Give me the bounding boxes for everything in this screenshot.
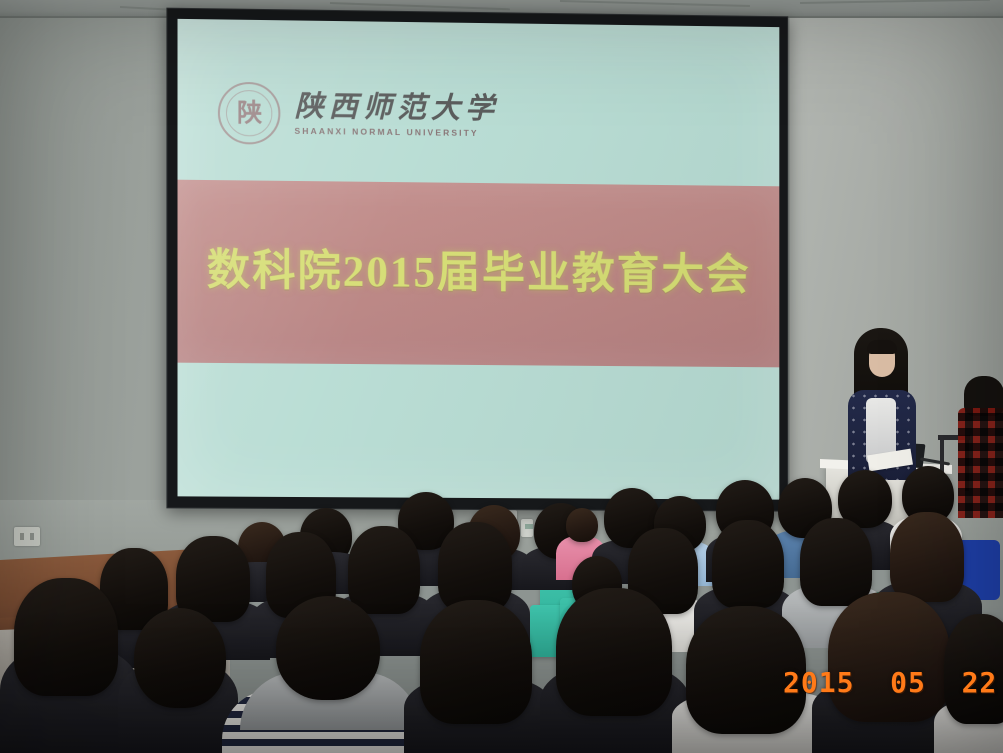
projection-screen: 陕 陕西师范大学 SHAANXI NORMAL UNIVERSITY 数科院20… [166, 8, 788, 512]
audience-head [556, 588, 672, 716]
audience-head [828, 592, 950, 722]
speaker-person [840, 328, 924, 476]
audience-head [134, 608, 226, 708]
audience-plaid-shirt [958, 408, 1003, 518]
audience-head [348, 526, 420, 614]
photograph-scene: 陕 陕西师范大学 SHAANXI NORMAL UNIVERSITY 数科院20… [0, 0, 1003, 753]
audience-head [890, 512, 964, 602]
university-name-en: SHAANXI NORMAL UNIVERSITY [294, 126, 499, 138]
wall-outlet-icon [521, 519, 533, 537]
audience-head [566, 508, 598, 542]
audience-head [800, 518, 872, 606]
presentation-slide: 陕 陕西师范大学 SHAANXI NORMAL UNIVERSITY 数科院20… [178, 19, 780, 500]
camera-timestamp: 2015 05 22 [783, 666, 997, 699]
left-wall [0, 18, 175, 518]
speaker-fringe [867, 340, 897, 354]
audience-head [14, 578, 118, 696]
audience-head [438, 522, 512, 612]
slide-title: 数科院2015届毕业教育大会 [178, 235, 780, 303]
audience-head [276, 596, 380, 700]
seal-character: 陕 [237, 101, 261, 126]
wall-outlet-icon [14, 527, 40, 546]
university-seal-icon: 陕 [218, 82, 280, 145]
university-logo: 陕 陕西师范大学 SHAANXI NORMAL UNIVERSITY [218, 82, 499, 148]
audience-head [420, 600, 532, 724]
university-name-cn: 陕西师范大学 [294, 92, 499, 125]
audience-head [712, 520, 784, 608]
